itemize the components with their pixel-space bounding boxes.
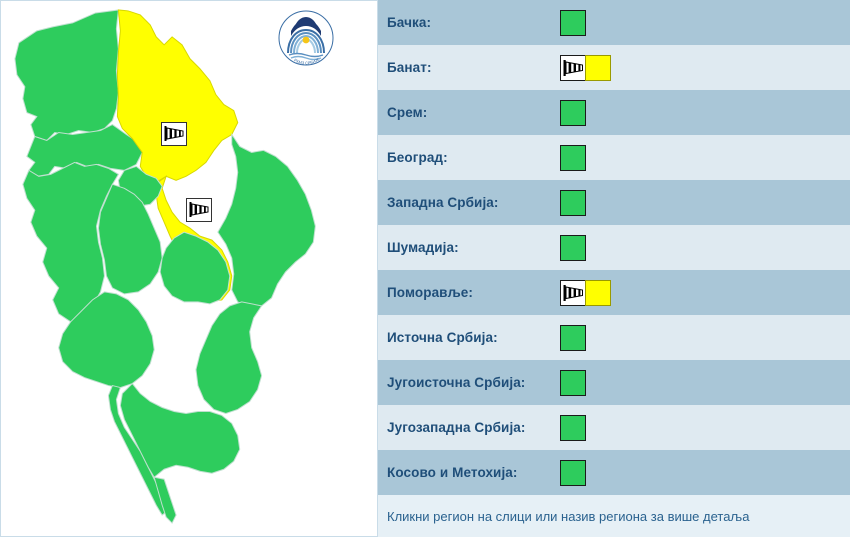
region-label[interactable]: Западна Србија: (378, 195, 560, 210)
warning-square-green (560, 460, 586, 486)
map-region-jugoistocna-srbija[interactable] (196, 302, 262, 414)
region-label[interactable]: Југоисточна Србија: (378, 375, 560, 390)
warning-symbol (560, 325, 586, 351)
warning-square-green (560, 415, 586, 441)
windsock-badge (560, 55, 586, 81)
region-row-zapadna-srbija[interactable]: Западна Србија: (378, 180, 850, 225)
map-windsock-icon-banat[interactable] (161, 122, 187, 146)
map-panel[interactable]: РХМЗ СРБИЈЕ (0, 0, 378, 537)
region-warning-list: Бачка: Банат: (378, 0, 850, 537)
footer-hint: Кликни регион на слици или назив региона… (378, 495, 850, 537)
region-row-jugoistocna-srbija[interactable]: Југоисточна Србија: (378, 360, 850, 405)
region-row-pomoravlje[interactable]: Поморавље: (378, 270, 850, 315)
warning-square-yellow (585, 55, 611, 81)
warning-symbol (560, 370, 586, 396)
region-row-banat[interactable]: Банат: (378, 45, 850, 90)
serbia-map[interactable] (1, 1, 377, 536)
warning-square-green (560, 190, 586, 216)
weather-warning-page: РХМЗ СРБИЈЕ (0, 0, 850, 537)
warning-symbol (560, 100, 586, 126)
warning-square-green (560, 235, 586, 261)
windsock-icon (188, 200, 210, 220)
map-region-backa[interactable] (15, 10, 118, 141)
map-windsock-icon-pomoravlje[interactable] (186, 198, 212, 222)
region-label[interactable]: Источна Србија: (378, 330, 560, 345)
warning-square-green (560, 100, 586, 126)
region-label[interactable]: Бачка: (378, 15, 560, 30)
warning-symbol (560, 280, 611, 306)
region-label[interactable]: Косово и Метохија: (378, 465, 560, 480)
region-label[interactable]: Поморавље: (378, 285, 560, 300)
warning-symbol (560, 190, 586, 216)
rhmz-logo: РХМЗ СРБИЈЕ (277, 9, 335, 67)
region-row-srem[interactable]: Срем: (378, 90, 850, 135)
windsock-icon (562, 282, 584, 304)
warning-symbol (560, 460, 586, 486)
warning-square-yellow (585, 280, 611, 306)
warning-square-green (560, 370, 586, 396)
map-region-pomoravlje[interactable] (160, 232, 230, 304)
windsock-badge (560, 280, 586, 306)
warning-square-green (560, 325, 586, 351)
windsock-icon (163, 124, 185, 144)
warning-symbol (560, 55, 611, 81)
region-label[interactable]: Југозападна Србија: (378, 420, 560, 435)
region-row-istocna-srbija[interactable]: Источна Србија: (378, 315, 850, 360)
warning-symbol (560, 415, 586, 441)
region-row-beograd[interactable]: Београд: (378, 135, 850, 180)
warning-square-green (560, 145, 586, 171)
map-region-istocna-srbija[interactable] (218, 135, 315, 308)
warning-symbol (560, 235, 586, 261)
windsock-icon (562, 57, 584, 79)
region-label[interactable]: Шумадија: (378, 240, 560, 255)
warning-square-green (560, 10, 586, 36)
region-row-backa[interactable]: Бачка: (378, 0, 850, 45)
region-label[interactable]: Београд: (378, 150, 560, 165)
region-row-jugozapadna-srbija[interactable]: Југозападна Србија: (378, 405, 850, 450)
region-label[interactable]: Срем: (378, 105, 560, 120)
warning-symbol (560, 145, 586, 171)
warning-symbol (560, 10, 586, 36)
region-label[interactable]: Банат: (378, 60, 560, 75)
rhmz-logo-icon: РХМЗ СРБИЈЕ (277, 9, 335, 67)
region-row-sumadija[interactable]: Шумадија: (378, 225, 850, 270)
region-row-kosovo-metohija[interactable]: Косово и Метохија: (378, 450, 850, 495)
